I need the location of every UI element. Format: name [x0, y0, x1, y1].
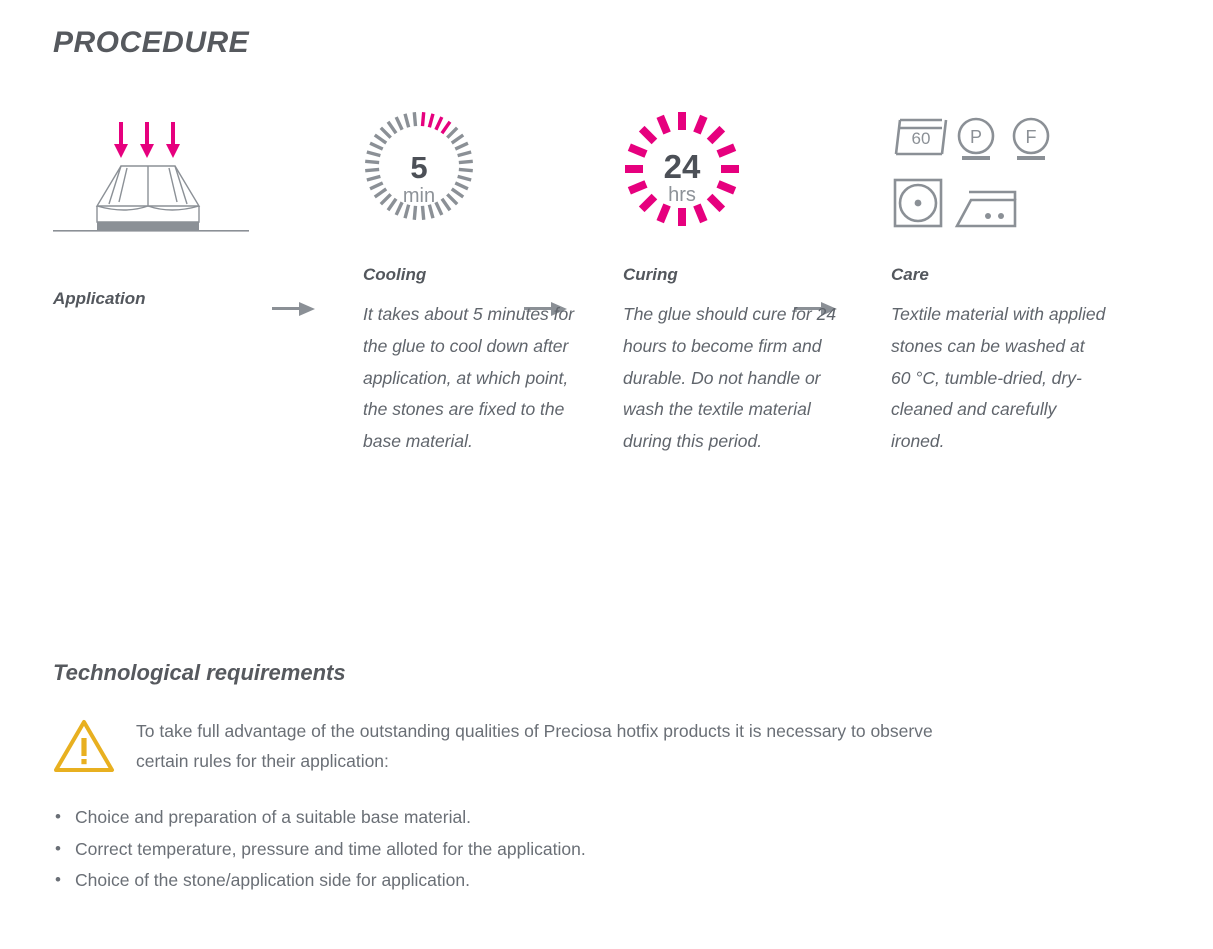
step-label-care: Care — [891, 265, 1106, 285]
requirements-bullet-list: Choice and preparation of a suitable bas… — [53, 802, 1153, 897]
wash-temperature-label: 60 — [912, 129, 931, 148]
step-label-cooling: Cooling — [363, 265, 578, 285]
tech-requirements-note: To take full advantage of the outstandin… — [53, 716, 1153, 778]
cooling-icon-area: 5 min — [363, 110, 578, 265]
list-item: Correct temperature, pressure and time a… — [53, 834, 1153, 866]
curing-dial-unit: hrs — [623, 184, 741, 207]
curing-icon-area: 24 hrs — [623, 110, 853, 265]
warning-triangle-icon — [53, 718, 115, 774]
cooling-dial-value: 5 — [363, 150, 475, 186]
step-body-curing: The glue should cure for 24 hours to bec… — [623, 299, 853, 458]
technological-requirements-section: Technological requirements To take full … — [53, 660, 1153, 897]
tech-note-text: To take full advantage of the outstandin… — [136, 716, 946, 776]
procedure-step-cooling: 5 min Cooling It takes about 5 minutes f… — [363, 110, 578, 458]
tech-requirements-title: Technological requirements — [53, 660, 1153, 686]
list-item: Choice of the stone/application side for… — [53, 865, 1153, 897]
care-symbols-icon: 60 P F — [891, 110, 1071, 230]
dry-clean-p-label: P — [970, 127, 982, 147]
page-title: PROCEDURE — [53, 26, 249, 60]
procedure-step-curing: 24 hrs Curing The glue should cure for 2… — [623, 110, 853, 458]
step-body-care: Textile material with applied stones can… — [891, 299, 1106, 458]
curing-dial-value: 24 — [623, 148, 741, 186]
list-item: Choice and preparation of a suitable bas… — [53, 802, 1153, 834]
procedure-section: Application 5 min Cooling It takes about… — [0, 110, 1213, 580]
iron-two-dots-icon — [957, 192, 1015, 226]
cooling-dial-unit: min — [363, 185, 475, 208]
application-icon-area — [53, 110, 303, 265]
care-icon-area: 60 P F — [891, 110, 1106, 265]
stone-press-arrows-icon — [53, 112, 253, 242]
procedure-step-application: Application — [53, 110, 303, 323]
step-body-cooling: It takes about 5 minutes for the glue to… — [363, 299, 578, 458]
step-label-application: Application — [53, 289, 303, 309]
step-label-curing: Curing — [623, 265, 853, 285]
procedure-step-care: 60 P F Care Textile material with applie… — [891, 110, 1106, 458]
dry-clean-f-label: F — [1026, 127, 1037, 147]
